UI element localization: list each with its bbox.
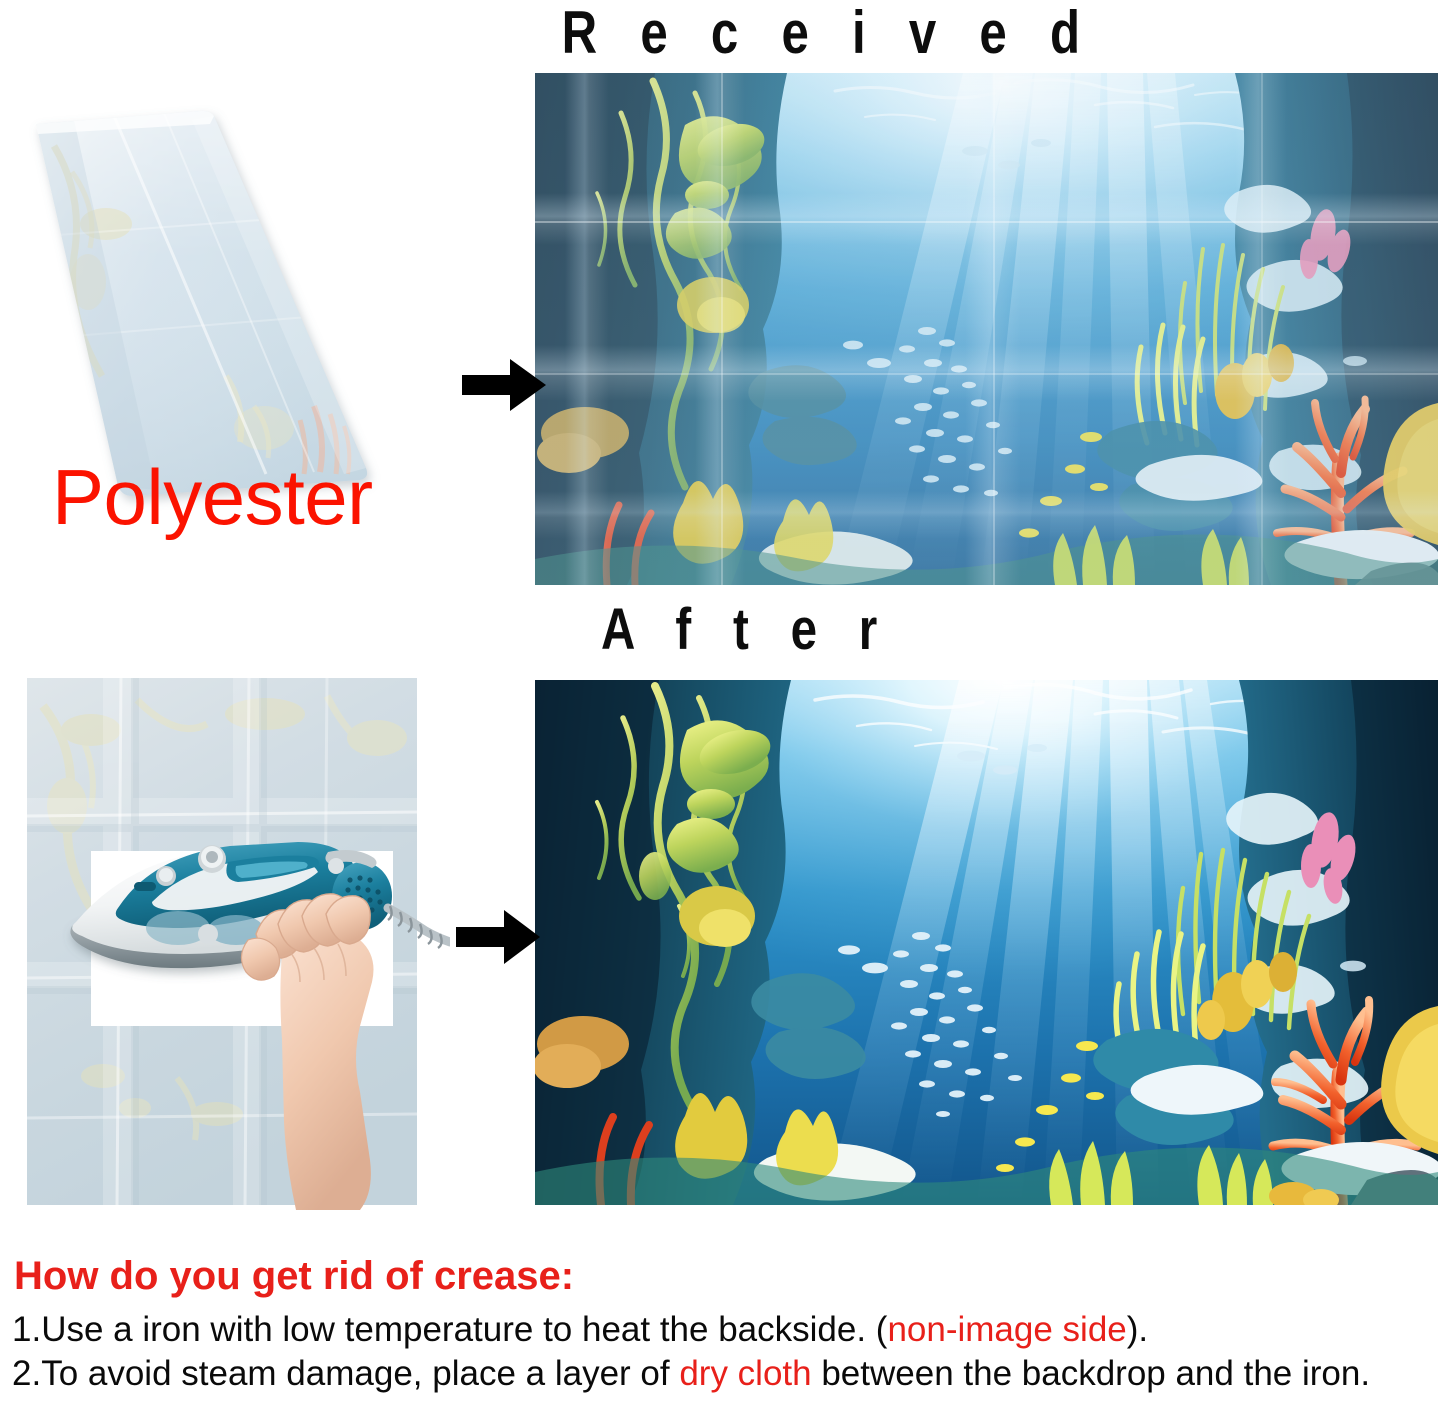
product-instruction-page: R e c e i v e d xyxy=(0,0,1438,1402)
right-arrow-icon-2 xyxy=(456,908,540,966)
underwater-reef-scene-creased xyxy=(535,73,1438,585)
iron-and-hand-illustration xyxy=(60,830,450,1210)
heading-received: R e c e i v e d xyxy=(140,0,1418,67)
polyester-label: Polyester xyxy=(52,456,373,538)
caption-line-1-part-a: 1.Use a iron with low temperature to hea… xyxy=(12,1310,887,1349)
caption-line-2: 2.To avoid steam damage, place a layer o… xyxy=(12,1352,1438,1396)
caption-line-1-highlight: non-image side xyxy=(887,1310,1126,1349)
crease-instructions: How do you get rid of crease: 1.Use a ir… xyxy=(10,1253,1438,1396)
caption-line-2-part-b: between the backdrop and the iron. xyxy=(812,1354,1370,1393)
after-backdrop-photo xyxy=(535,680,1438,1205)
caption-line-2-highlight: dry cloth xyxy=(679,1354,811,1393)
caption-heading: How do you get rid of crease: xyxy=(14,1253,1438,1299)
received-backdrop-photo xyxy=(535,73,1438,585)
caption-line-2-part-a: 2.To avoid steam damage, place a layer o… xyxy=(12,1354,679,1393)
caption-line-1: 1.Use a iron with low temperature to hea… xyxy=(12,1308,1438,1352)
heading-after: A f t e r xyxy=(132,596,1336,663)
underwater-reef-scene-smooth xyxy=(535,680,1438,1205)
right-arrow-icon xyxy=(462,357,546,413)
caption-line-1-part-b: ). xyxy=(1127,1310,1148,1349)
